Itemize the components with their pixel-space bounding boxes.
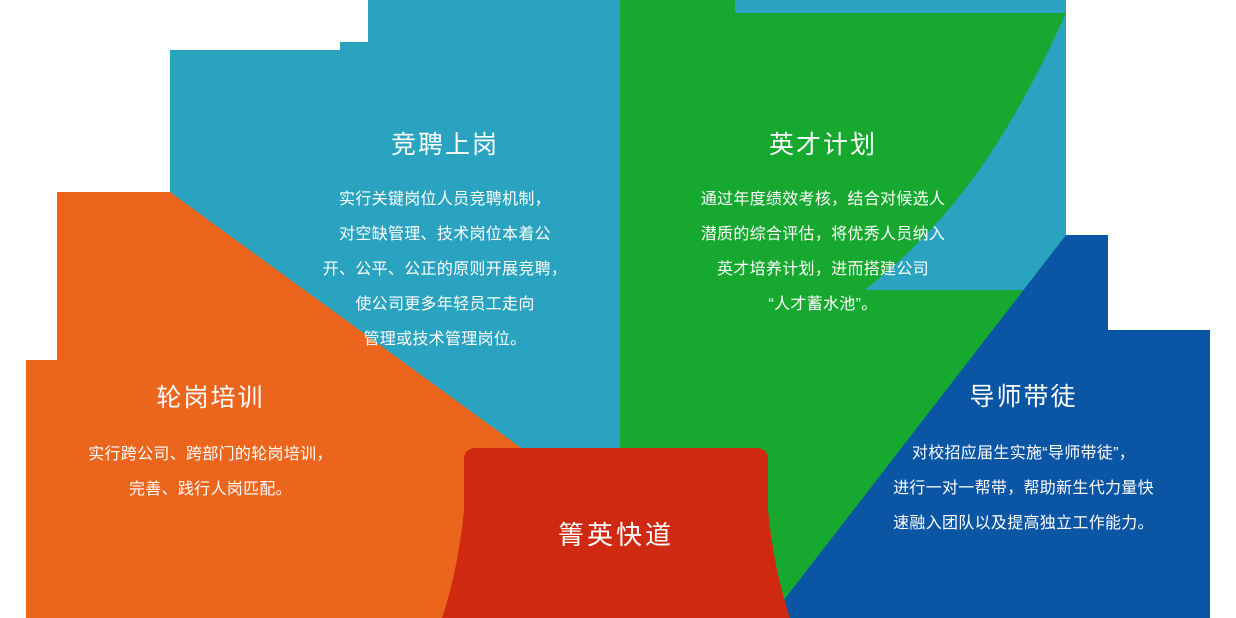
red-center-shape[interactable]: [442, 448, 790, 618]
diagram-canvas: 竞聘上岗 实行关键岗位人员竞聘机制， 对空缺管理、技术岗位本着公 开、公平、公正…: [0, 0, 1236, 618]
diagram-shapes: [0, 0, 1236, 618]
